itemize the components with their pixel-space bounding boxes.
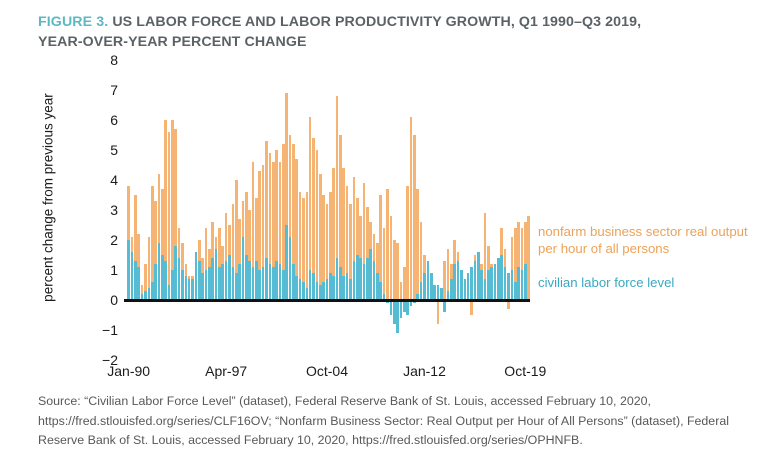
bar-productivity	[306, 192, 309, 300]
bar-labor-force	[423, 273, 426, 300]
bar-labor-force	[292, 264, 295, 300]
y-tick-label: 4	[110, 173, 118, 187]
bar-labor-force	[225, 261, 228, 300]
bar-labor-force	[396, 300, 399, 333]
bar-labor-force	[427, 261, 430, 300]
bar-labor-force	[322, 282, 325, 300]
bar-productivity	[396, 243, 399, 300]
bar-labor-force	[255, 261, 258, 300]
bars-layer	[127, 60, 527, 360]
bar-labor-force	[480, 270, 483, 300]
bar-labor-force	[366, 258, 369, 300]
bar-labor-force	[336, 258, 339, 300]
bar-labor-force	[205, 270, 208, 300]
bar-labor-force	[252, 267, 255, 300]
bar-labor-force	[342, 276, 345, 300]
title-line-1: FIGURE 3. US LABOR FORCE AND LABOR PRODU…	[38, 12, 738, 32]
bar-labor-force	[353, 261, 356, 300]
bar-labor-force	[228, 255, 231, 300]
bar-labor-force	[453, 264, 456, 300]
bar-labor-force	[232, 267, 235, 300]
bar-labor-force	[349, 279, 352, 300]
bar-labor-force	[151, 282, 154, 300]
bar-labor-force	[457, 261, 460, 300]
bar-labor-force	[379, 282, 382, 300]
bar-labor-force	[420, 282, 423, 300]
bar-labor-force	[390, 300, 393, 315]
bar-labor-force	[174, 246, 177, 300]
bar-labor-force	[137, 267, 140, 300]
bar-labor-force	[500, 255, 503, 300]
bar-productivity	[527, 216, 530, 300]
bar-labor-force	[168, 285, 171, 300]
bar-labor-force	[218, 267, 221, 300]
bar-labor-force	[437, 285, 440, 300]
y-tick-label: 5	[110, 143, 118, 157]
bar-productivity	[316, 150, 319, 300]
bar-productivity	[400, 282, 403, 300]
bar-labor-force	[511, 270, 514, 300]
y-axis-title: percent change from previous year	[41, 88, 56, 308]
y-tick-label: 2	[110, 233, 118, 247]
bar-labor-force	[309, 270, 312, 300]
y-tick-label: 0	[110, 293, 118, 307]
bar-labor-force	[329, 273, 332, 300]
y-tick-label: 3	[110, 203, 118, 217]
y-tick-label: 1	[110, 263, 118, 277]
bar-labor-force	[517, 267, 520, 300]
bar-labor-force	[198, 261, 201, 300]
zero-baseline	[124, 299, 530, 302]
bar-labor-force	[171, 270, 174, 300]
bar-labor-force	[359, 258, 362, 300]
bar-labor-force	[299, 279, 302, 300]
bar-labor-force	[302, 282, 305, 300]
bar-productivity	[416, 189, 419, 300]
bar-labor-force	[521, 270, 524, 300]
bar-labor-force	[319, 285, 322, 300]
bar-labor-force	[474, 261, 477, 300]
bar-labor-force	[376, 273, 379, 300]
bar-labor-force	[262, 267, 265, 300]
bar-labor-force	[154, 264, 157, 300]
bar-labor-force	[201, 273, 204, 300]
bar-labor-force	[487, 270, 490, 300]
x-tick-label: Oct-04	[306, 363, 348, 379]
bar-productivity	[393, 240, 396, 300]
bar-labor-force	[339, 267, 342, 300]
bar-productivity	[437, 300, 440, 324]
bar-labor-force	[235, 273, 238, 300]
plot-area	[127, 60, 527, 360]
bar-labor-force	[272, 267, 275, 300]
bar-labor-force	[490, 267, 493, 300]
bar-labor-force	[450, 279, 453, 300]
bar-labor-force	[279, 264, 282, 300]
chart-container: percent change from previous year 876543…	[0, 60, 768, 380]
bar-labor-force	[221, 264, 224, 300]
bar-labor-force	[393, 300, 396, 324]
bar-productivity	[383, 228, 386, 300]
y-axis-tick-labels: 876543210−1−2	[92, 60, 118, 360]
x-tick-label: Jan-90	[107, 363, 150, 379]
legend-item-productivity: nonfarm business sector real output per …	[538, 224, 762, 258]
bar-labor-force	[188, 279, 191, 300]
chart-legend: nonfarm business sector real output per …	[538, 224, 762, 292]
bar-labor-force	[245, 255, 248, 300]
source-note: Source: “Civilian Labor Force Level” (da…	[38, 392, 738, 451]
bar-labor-force	[248, 261, 251, 300]
bar-labor-force	[178, 258, 181, 300]
bar-productivity	[386, 189, 389, 300]
bar-labor-force	[406, 300, 409, 315]
bar-labor-force	[369, 249, 372, 300]
bar-labor-force	[195, 252, 198, 300]
y-tick-label: 6	[110, 113, 118, 127]
bar-labor-force	[484, 279, 487, 300]
bar-labor-force	[282, 270, 285, 300]
title-line-1-text: US LABOR FORCE AND LABOR PRODUCTIVITY GR…	[108, 14, 641, 30]
bar-labor-force	[158, 243, 161, 300]
x-tick-label: Apr-97	[205, 363, 247, 379]
figure-title: FIGURE 3. US LABOR FORCE AND LABOR PRODU…	[38, 12, 738, 52]
bar-labor-force	[363, 264, 366, 300]
bar-labor-force	[494, 264, 497, 300]
bar-labor-force	[400, 300, 403, 318]
bar-labor-force	[127, 240, 130, 300]
bar-productivity	[390, 216, 393, 300]
y-tick-label: 8	[110, 53, 118, 67]
bar-productivity	[406, 186, 409, 300]
title-line-2: YEAR-OVER-YEAR PERCENT CHANGE	[38, 32, 738, 52]
bar-labor-force	[161, 255, 164, 300]
bar-labor-force	[514, 282, 517, 300]
bar-labor-force	[316, 282, 319, 300]
bar-labor-force	[164, 261, 167, 300]
bar-productivity	[319, 174, 322, 300]
bar-labor-force	[285, 225, 288, 300]
bar-labor-force	[242, 237, 245, 300]
bar-productivity	[168, 132, 171, 300]
bar-productivity	[413, 135, 416, 300]
bar-labor-force	[346, 273, 349, 300]
x-tick-label: Jan-12	[403, 363, 446, 379]
bar-productivity	[470, 300, 473, 315]
bar-labor-force	[524, 264, 527, 300]
bar-labor-force	[295, 276, 298, 300]
x-tick-label: Oct-19	[504, 363, 546, 379]
bar-labor-force	[211, 258, 214, 300]
bar-labor-force	[433, 285, 436, 300]
y-tick-label: −1	[102, 323, 118, 337]
bar-labor-force	[131, 252, 134, 300]
bar-labor-force	[191, 279, 194, 300]
bar-labor-force	[181, 270, 184, 300]
bar-labor-force	[134, 261, 137, 300]
bar-productivity	[443, 261, 446, 300]
bar-labor-force	[504, 267, 507, 300]
bar-labor-force	[185, 276, 188, 300]
bar-labor-force	[373, 261, 376, 300]
bar-labor-force	[312, 273, 315, 300]
bar-labor-force	[470, 267, 473, 300]
bar-labor-force	[208, 267, 211, 300]
bar-labor-force	[356, 255, 359, 300]
bar-productivity	[410, 117, 413, 300]
bar-labor-force	[269, 264, 272, 300]
bar-labor-force	[265, 258, 268, 300]
bar-labor-force	[477, 252, 480, 300]
bar-productivity	[403, 267, 406, 300]
bar-labor-force	[275, 261, 278, 300]
bar-labor-force	[507, 273, 510, 300]
y-tick-label: 7	[110, 83, 118, 97]
bar-labor-force	[215, 249, 218, 300]
bar-labor-force	[238, 264, 241, 300]
x-axis-tick-labels: Jan-90Apr-97Oct-04Jan-12Oct-19	[127, 363, 527, 387]
bar-labor-force	[464, 279, 467, 300]
bar-labor-force	[467, 273, 470, 300]
bar-labor-force	[258, 270, 261, 300]
bar-labor-force	[326, 279, 329, 300]
bar-labor-force	[497, 258, 500, 300]
bar-labor-force	[332, 276, 335, 300]
figure-number-tag: FIGURE 3.	[38, 14, 108, 30]
legend-item-labor-force: civilian labor force level	[538, 275, 762, 292]
bar-labor-force	[289, 237, 292, 300]
bar-labor-force	[430, 273, 433, 300]
bar-labor-force	[460, 270, 463, 300]
